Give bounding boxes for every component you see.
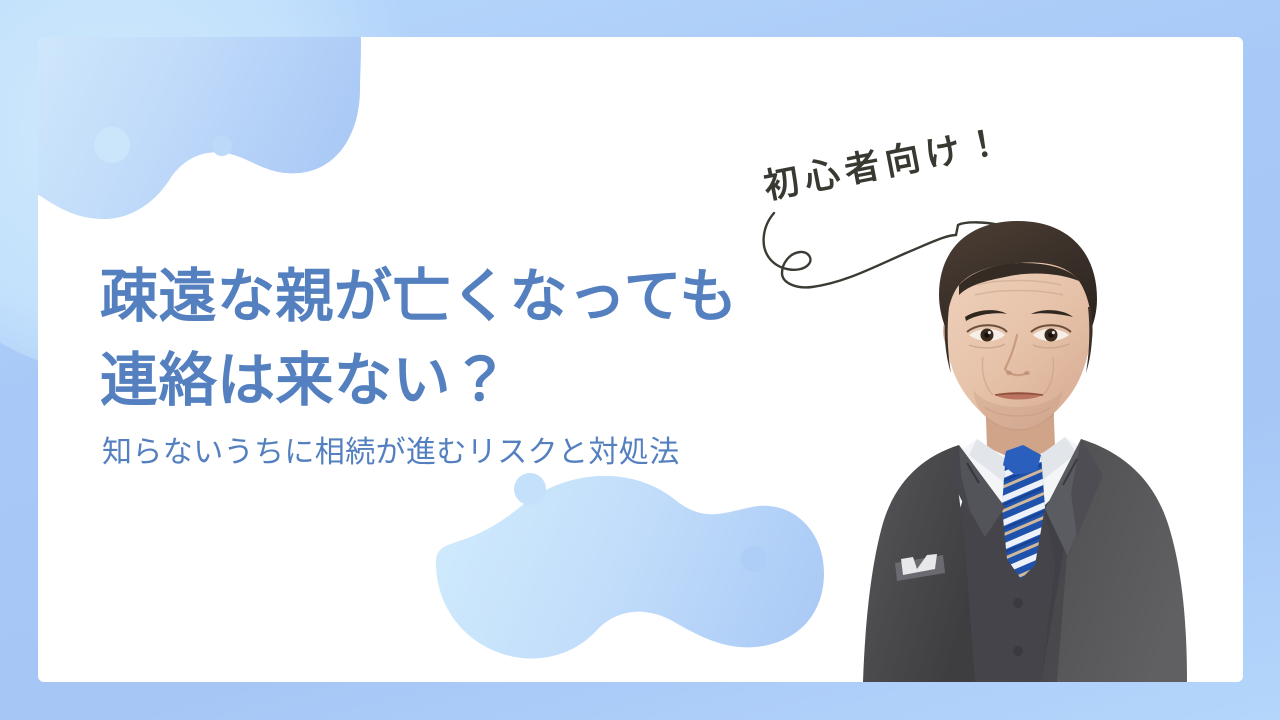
text-block: 疎遠な親が亡くなっても 連絡は来ない？ 知らないうちに相続が進むリスクと対処法 bbox=[100, 255, 890, 474]
page-title: 疎遠な親が亡くなっても 連絡は来ない？ bbox=[100, 255, 890, 422]
blob-top-left bbox=[38, 37, 361, 219]
content-card: 初心者向け！ 疎遠な親が亡くなっても 連絡は来ない？ 知らないうちに相続が進むリ… bbox=[38, 37, 1243, 682]
page-title-line-2: 連絡は来ない？ bbox=[100, 339, 890, 423]
portrait-photo bbox=[809, 207, 1239, 682]
page-subtitle: 知らないうちに相続が進むリスクと対処法 bbox=[102, 432, 890, 474]
handwritten-badge-text: 初心者向け！ bbox=[759, 102, 1063, 209]
head bbox=[939, 221, 1097, 431]
thumbnail-banner: 初心者向け！ 疎遠な親が亡くなっても 連絡は来ない？ 知らないうちに相続が進むリ… bbox=[0, 0, 1280, 720]
page-title-line-1: 疎遠な親が亡くなっても bbox=[100, 255, 890, 339]
blob-bottom-center bbox=[436, 473, 824, 658]
bubble-small bbox=[212, 136, 232, 156]
bubble-large bbox=[94, 127, 130, 163]
